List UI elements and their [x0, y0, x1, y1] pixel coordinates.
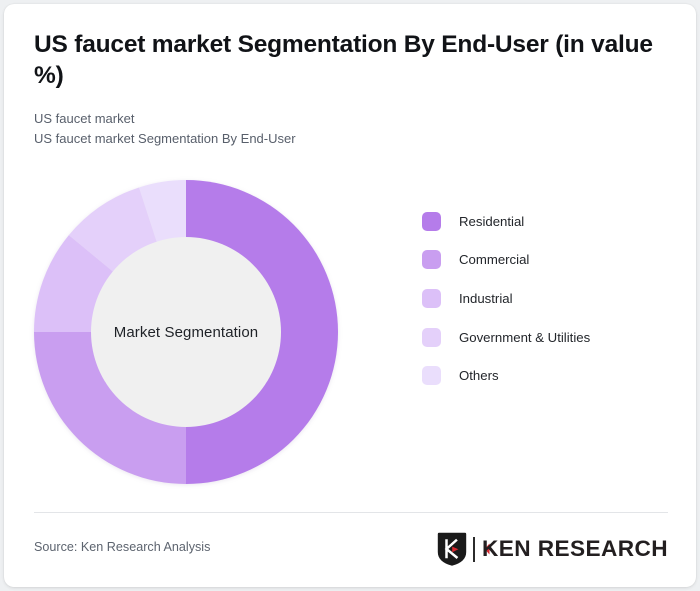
legend-swatch	[422, 212, 441, 231]
chart-footer: Source: Ken Research Analysis KEN RESEAR…	[34, 528, 668, 572]
chart-card: US faucet market Segmentation By End-Use…	[4, 4, 696, 587]
subtitle-market: US faucet market	[34, 109, 668, 129]
page-title: US faucet market Segmentation By End-Use…	[34, 30, 668, 92]
donut-svg	[32, 178, 340, 486]
legend-swatch	[422, 250, 441, 269]
chart-legend: ResidentialCommercialIndustrialGovernmen…	[422, 202, 672, 395]
subtitle-segmentation: US faucet market Segmentation By End-Use…	[34, 129, 668, 149]
legend-label: Others	[459, 368, 499, 383]
legend-swatch	[422, 289, 441, 308]
legend-item[interactable]: Commercial	[422, 241, 672, 280]
source-note: Source: Ken Research Analysis	[34, 540, 210, 554]
donut-chart: Market Segmentation	[32, 178, 340, 486]
legend-swatch	[422, 366, 441, 385]
legend-item[interactable]: Industrial	[422, 279, 672, 318]
logo-wordmark-text: KEN RESEARCH	[482, 536, 668, 561]
legend-label: Commercial	[459, 252, 529, 267]
legend-swatch	[422, 328, 441, 347]
legend-label: Residential	[459, 214, 524, 229]
chart-header: US faucet market Segmentation By End-Use…	[34, 30, 668, 149]
footer-divider	[34, 512, 668, 513]
legend-label: Industrial	[459, 291, 513, 306]
legend-item[interactable]: Government & Utilities	[422, 318, 672, 357]
chart-plot-area: Market Segmentation ResidentialCommercia…	[4, 164, 696, 509]
logo-divider	[473, 537, 475, 562]
ken-research-logo: KEN RESEARCH	[437, 528, 668, 570]
logo-wordmark: KEN RESEARCH	[482, 536, 668, 562]
shield-icon	[437, 532, 467, 566]
legend-label: Government & Utilities	[459, 330, 590, 345]
legend-item[interactable]: Residential	[422, 202, 672, 241]
subtitle-group: US faucet market US faucet market Segmen…	[34, 109, 668, 149]
donut-hole	[91, 237, 281, 427]
legend-item[interactable]: Others	[422, 356, 672, 395]
